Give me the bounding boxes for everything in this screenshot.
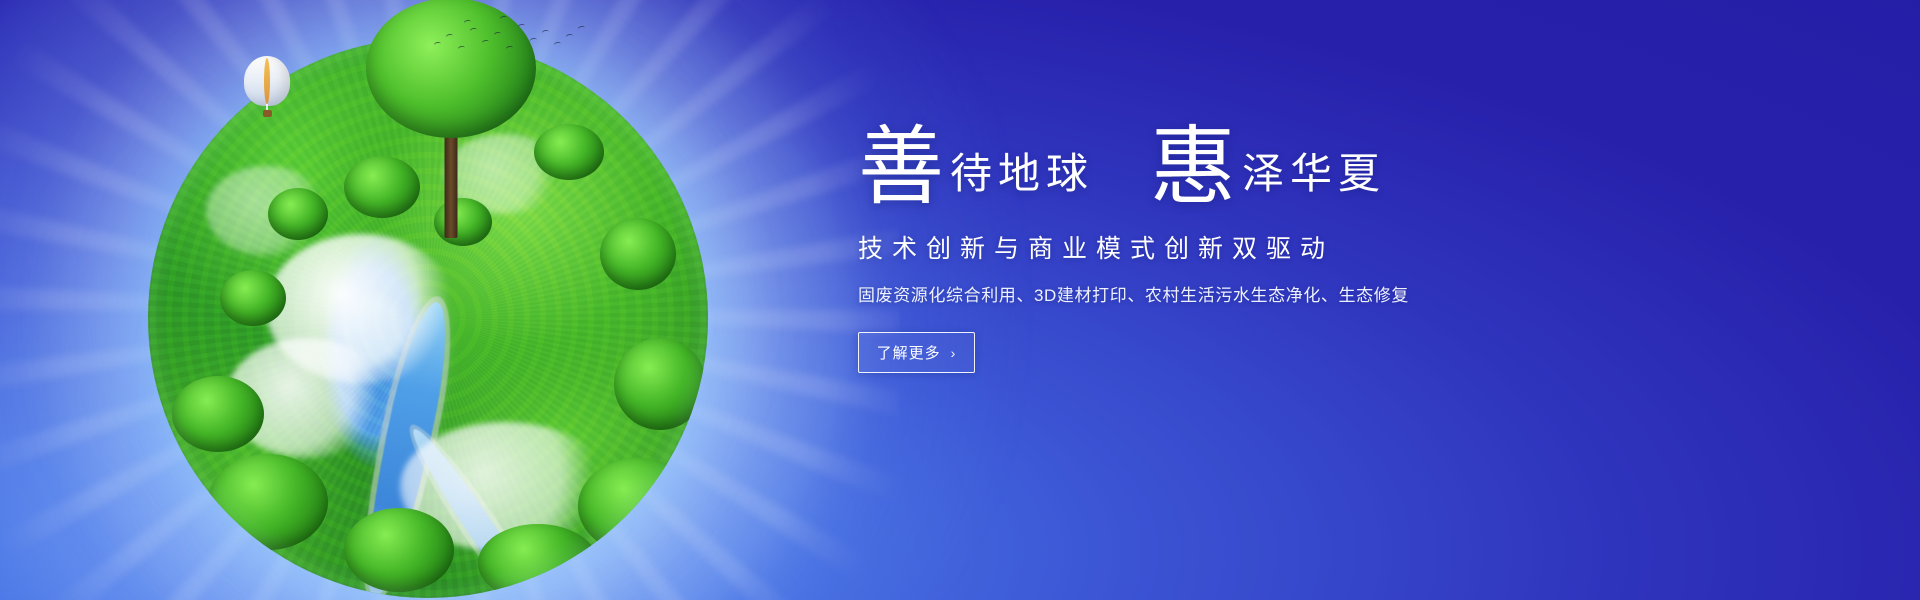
hero-banner: 善 待地球 惠 泽华夏 技术创新与商业模式创新双驱动 固废资源化综合利用、3D建…: [0, 0, 1920, 600]
cloud-icon: [226, 338, 386, 458]
little-planet-scene: [148, 38, 708, 598]
tree-cluster: [344, 508, 454, 592]
cloud-icon: [400, 422, 610, 552]
headline-char-hui: 惠: [1150, 128, 1242, 207]
tree-cluster: [208, 454, 328, 550]
tree-cluster: [172, 376, 264, 452]
hero-text-block: 善 待地球 惠 泽华夏 技术创新与商业模式创新双驱动 固废资源化综合利用、3D建…: [858, 128, 1558, 373]
headline-group-2: 惠 泽华夏: [1150, 128, 1386, 207]
hot-air-balloon-icon: [244, 56, 290, 118]
tree-cluster: [478, 524, 598, 598]
headline-group-1: 善 待地球: [858, 128, 1094, 207]
river-water: [403, 422, 564, 598]
tree-cluster: [220, 270, 286, 326]
tree-cluster: [434, 198, 492, 246]
headline-text-daidiqiu: 待地球: [950, 153, 1094, 207]
headline: 善 待地球 惠 泽华夏: [858, 128, 1558, 207]
hero-description: 固废资源化综合利用、3D建材打印、农村生活污水生态净化、生态修复: [858, 281, 1558, 306]
cloud-icon: [206, 166, 326, 256]
bird-flock-icon: [430, 12, 590, 72]
chevron-right-icon: ›: [951, 346, 957, 360]
lake-water: [353, 298, 458, 598]
tree-cluster: [600, 218, 676, 290]
tree-cluster: [614, 338, 706, 430]
hero-subtitle: 技术创新与商业模式创新双驱动: [858, 229, 1558, 265]
tree-cluster: [268, 188, 328, 240]
headline-text-zehuaxia: 泽华夏: [1242, 153, 1386, 207]
learn-more-label: 了解更多: [877, 342, 941, 363]
headline-char-shan: 善: [858, 128, 950, 207]
cloud-icon: [266, 234, 456, 384]
learn-more-button[interactable]: 了解更多 ›: [858, 332, 975, 373]
balloon-stripe: [264, 58, 270, 104]
balloon-basket: [263, 110, 272, 117]
tree-cluster: [578, 458, 698, 554]
